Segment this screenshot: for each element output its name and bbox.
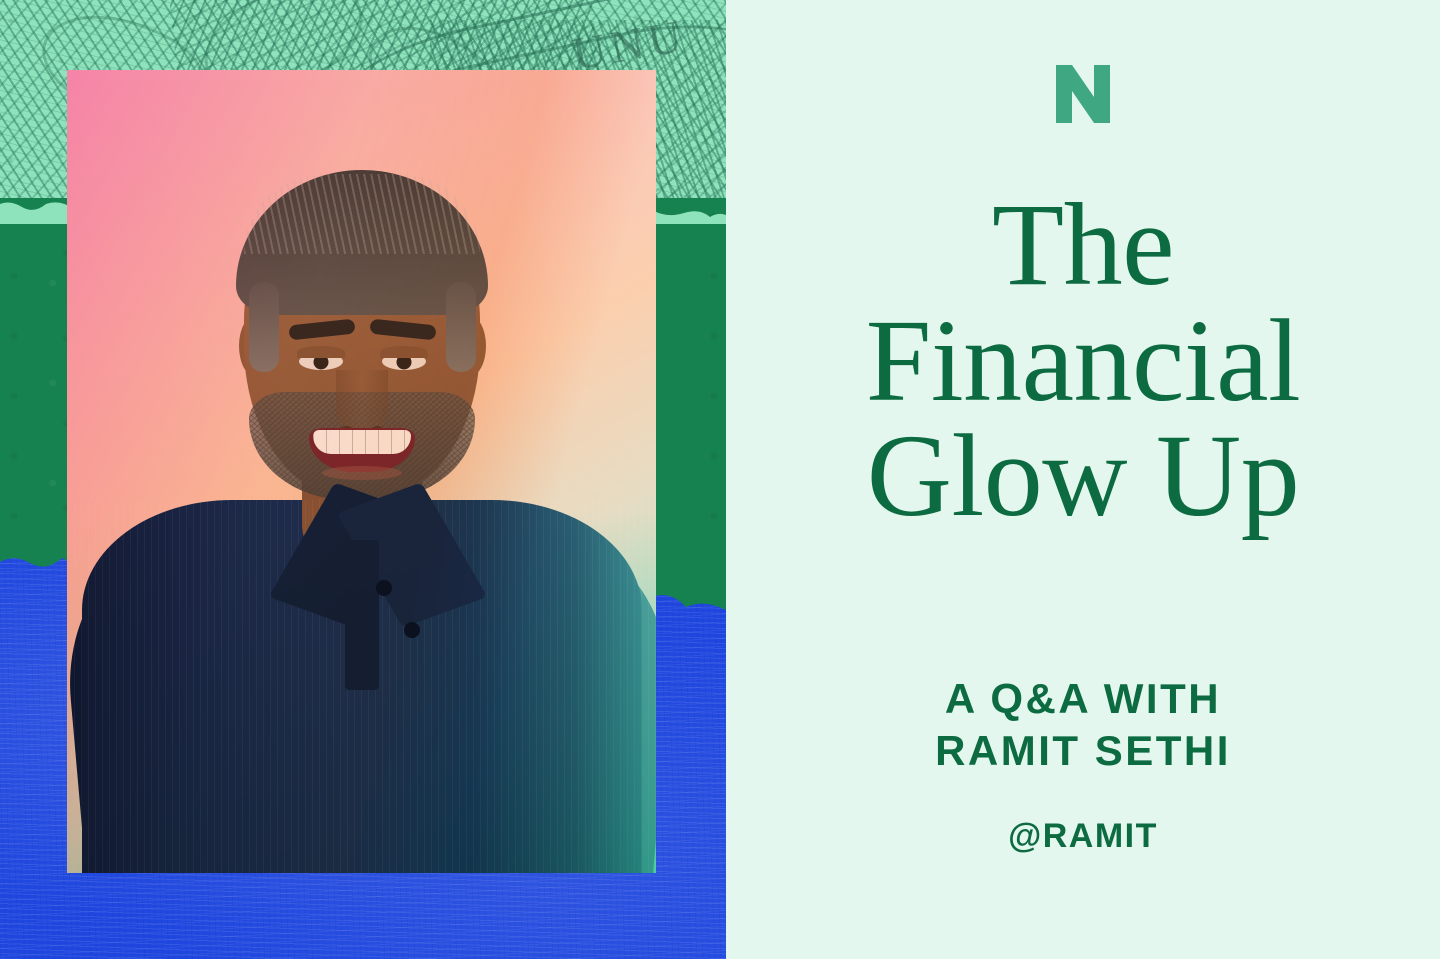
- polo-placket: [345, 540, 379, 690]
- button-top: [376, 580, 392, 596]
- eyelid-right: [380, 346, 428, 358]
- hair-highlight: [244, 174, 480, 254]
- title-line-1: The: [866, 187, 1301, 303]
- page-title: The Financial Glow Up: [866, 187, 1301, 534]
- title-line-3: Glow Up: [866, 418, 1301, 534]
- text-panel: The Financial Glow Up A Q&A WITH RAMIT S…: [726, 0, 1440, 959]
- portrait-figure: [67, 70, 656, 873]
- social-handle: @RAMIT: [1008, 817, 1158, 856]
- teeth: [313, 430, 411, 454]
- nose: [336, 370, 388, 434]
- promo-graphic: UNU: [0, 0, 1440, 959]
- subtitle: A Q&A WITH RAMIT SETHI: [935, 673, 1231, 777]
- collage-background: UNU: [0, 0, 726, 959]
- title-line-2: Financial: [866, 303, 1301, 419]
- portrait-photo: [67, 70, 656, 873]
- nerdwallet-n-logo-icon: [1046, 57, 1120, 131]
- lower-lip: [322, 466, 402, 480]
- button-bottom: [404, 622, 420, 638]
- sideburn-left: [249, 282, 279, 372]
- sideburn-right: [446, 282, 476, 372]
- subtitle-line-2: RAMIT SETHI: [935, 725, 1231, 777]
- eyelid-left: [297, 346, 345, 358]
- subtitle-line-1: A Q&A WITH: [935, 673, 1231, 725]
